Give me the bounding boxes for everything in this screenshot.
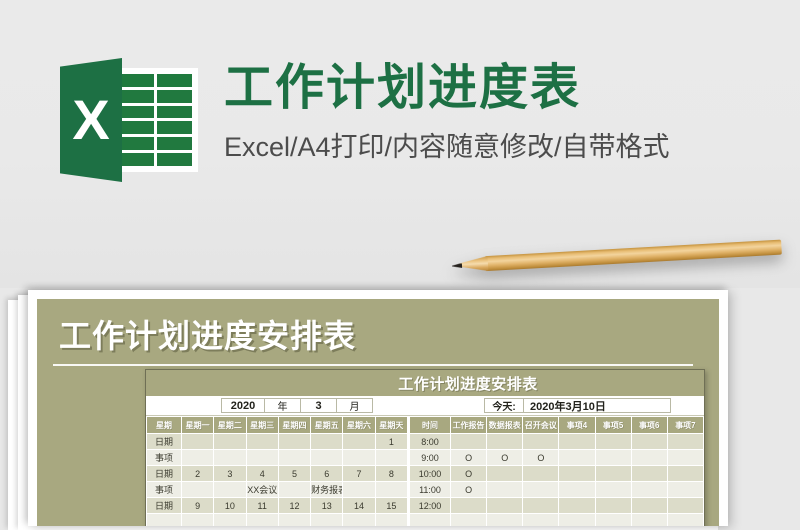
schedule-cell[interactable]	[559, 514, 595, 527]
weekday-cell[interactable]	[182, 514, 214, 527]
weekday-cell[interactable]	[311, 434, 343, 450]
schedule-cell[interactable]: O	[487, 450, 523, 466]
schedule-col-header: 工作报告	[451, 417, 487, 434]
schedule-col-header: 事项5	[595, 417, 631, 434]
schedule-col-header: 事项6	[631, 417, 667, 434]
table-row: 日期2345678	[147, 466, 408, 482]
table-row: 事项XX会议财务报表	[147, 482, 408, 498]
schedule-cell[interactable]	[523, 434, 559, 450]
weekday-cell[interactable]	[343, 450, 375, 466]
schedule-cell[interactable]: O	[451, 466, 487, 482]
pencil-graphite-tip	[452, 263, 462, 269]
weekday-cell[interactable]: 10	[214, 498, 246, 514]
schedule-cell[interactable]	[667, 450, 703, 466]
schedule-cell[interactable]	[667, 434, 703, 450]
schedule-row-label: 8:00	[409, 434, 451, 450]
schedule-cell[interactable]	[595, 450, 631, 466]
weekday-col-header: 星期二	[214, 417, 246, 434]
weekday-row-label: 日期	[147, 466, 182, 482]
schedule-col-header: 事项7	[667, 417, 703, 434]
today-label: 今天:	[484, 398, 524, 413]
weekday-col-header: 星期一	[182, 417, 214, 434]
schedule-col-header: 事项4	[559, 417, 595, 434]
schedule-cell[interactable]	[487, 482, 523, 498]
schedule-cell[interactable]	[631, 514, 667, 527]
weekday-cell[interactable]: 4	[246, 466, 278, 482]
schedule-col-header: 召开会议	[523, 417, 559, 434]
schedule-cell[interactable]	[523, 498, 559, 514]
weekday-table-container: 星期星期一星期二星期三星期四星期五星期六星期天 日期1事项日期2345678事项…	[146, 416, 408, 526]
weekday-cell[interactable]: 14	[343, 498, 375, 514]
table-row: 事项	[147, 450, 408, 466]
weekday-cell[interactable]: 9	[182, 498, 214, 514]
schedule-cell[interactable]	[523, 482, 559, 498]
hero-banner: X 工作计划进度表 Excel/A4打印/内容随意修改/自带格式	[0, 0, 800, 288]
spreadsheet-tables: 星期星期一星期二星期三星期四星期五星期六星期天 日期1事项日期2345678事项…	[146, 416, 704, 526]
weekday-row-label: 事项	[147, 450, 182, 466]
page-subtitle: Excel/A4打印/内容随意修改/自带格式	[224, 125, 670, 164]
weekday-table-header-row: 星期星期一星期二星期三星期四星期五星期六星期天	[147, 417, 408, 434]
month-input[interactable]: 3	[300, 398, 337, 413]
schedule-cell[interactable]: O	[451, 450, 487, 466]
weekday-col-header: 星期六	[343, 417, 375, 434]
spreadsheet-preview: 工作计划进度安排表 2020 年 3 月 今天: 2020年3月10日 星期星期…	[145, 369, 705, 526]
weekday-cell[interactable]	[214, 514, 246, 527]
schedule-table-header-row: 时间工作报告数据报表召开会议事项4事项5事项6事项7	[409, 417, 704, 434]
excel-icon-grid	[115, 71, 195, 169]
schedule-cell[interactable]	[559, 450, 595, 466]
page-title: 工作计划进度表	[224, 60, 670, 116]
weekday-cell[interactable]	[278, 434, 310, 450]
weekday-cell[interactable]	[343, 434, 375, 450]
weekday-col-header: 星期四	[278, 417, 310, 434]
schedule-cell[interactable]	[487, 514, 523, 527]
weekday-cell[interactable]	[375, 514, 407, 527]
weekday-row-label	[147, 514, 182, 527]
document-banner-title: 工作计划进度安排表	[59, 311, 719, 357]
schedule-cell[interactable]	[487, 434, 523, 450]
weekday-cell[interactable]	[278, 450, 310, 466]
schedule-cell[interactable]	[559, 498, 595, 514]
schedule-row-label: 11:00	[409, 482, 451, 498]
weekday-cell[interactable]	[182, 482, 214, 498]
weekday-row-label: 日期	[147, 434, 182, 450]
weekday-cell[interactable]	[246, 434, 278, 450]
weekday-cell[interactable]	[246, 450, 278, 466]
weekday-cell[interactable]: 12	[278, 498, 310, 514]
schedule-table: 时间工作报告数据报表召开会议事项4事项5事项6事项7 8:009:00OOO10…	[408, 416, 704, 526]
table-row: 11:00O	[409, 482, 704, 498]
schedule-cell[interactable]	[487, 498, 523, 514]
excel-file-icon: X	[60, 58, 198, 182]
schedule-cell[interactable]	[667, 498, 703, 514]
schedule-cell[interactable]	[559, 466, 595, 482]
schedule-cell[interactable]	[559, 482, 595, 498]
schedule-cell[interactable]: O	[523, 450, 559, 466]
weekday-cell[interactable]	[182, 434, 214, 450]
table-row: 日期9101112131415	[147, 498, 408, 514]
excel-icon-letter: X	[60, 58, 122, 182]
year-unit-label: 年	[264, 398, 301, 413]
table-row	[409, 514, 704, 527]
weekday-col-header: 星期三	[246, 417, 278, 434]
schedule-cell[interactable]	[451, 514, 487, 527]
weekday-cell[interactable]: 1	[375, 434, 407, 450]
weekday-cell[interactable]: 13	[311, 498, 343, 514]
table-row: 8:00	[409, 434, 704, 450]
document-body: 工作计划进度安排表 工作计划进度安排表 2020 年 3 月 今天: 2020年…	[37, 299, 719, 526]
schedule-cell[interactable]	[631, 498, 667, 514]
schedule-cell[interactable]	[595, 514, 631, 527]
weekday-table: 星期星期一星期二星期三星期四星期五星期六星期天 日期1事项日期2345678事项…	[146, 416, 408, 526]
weekday-cell[interactable]: 11	[246, 498, 278, 514]
pencil-wood-cone	[460, 256, 489, 273]
weekday-cell[interactable]	[375, 450, 407, 466]
schedule-cell[interactable]	[667, 514, 703, 527]
control-row-gap	[373, 398, 485, 413]
weekday-cell[interactable]	[278, 514, 310, 527]
schedule-cell[interactable]	[667, 466, 703, 482]
pencil-body	[486, 240, 782, 271]
schedule-cell[interactable]	[595, 482, 631, 498]
schedule-row-label: 9:00	[409, 450, 451, 466]
document-divider	[53, 364, 693, 366]
schedule-cell[interactable]	[487, 466, 523, 482]
year-input[interactable]: 2020	[221, 398, 265, 413]
schedule-cell[interactable]	[595, 434, 631, 450]
weekday-cell[interactable]: 8	[375, 466, 407, 482]
document-preview-stack: 工作计划进度安排表 工作计划进度安排表 2020 年 3 月 今天: 2020年…	[0, 290, 800, 526]
weekday-cell[interactable]	[214, 482, 246, 498]
weekday-cell[interactable]	[311, 450, 343, 466]
weekday-cell[interactable]: 15	[375, 498, 407, 514]
schedule-cell[interactable]	[523, 466, 559, 482]
today-value[interactable]: 2020年3月10日	[523, 398, 671, 413]
schedule-cell[interactable]	[631, 466, 667, 482]
weekday-cell[interactable]: 5	[278, 466, 310, 482]
weekday-cell[interactable]: 2	[182, 466, 214, 482]
schedule-cell[interactable]	[451, 498, 487, 514]
weekday-col-header: 星期天	[375, 417, 407, 434]
schedule-table-container: 时间工作报告数据报表召开会议事项4事项5事项6事项7 8:009:00OOO10…	[408, 416, 704, 526]
month-unit-label: 月	[336, 398, 373, 413]
schedule-row-label: 10:00	[409, 466, 451, 482]
pencil-illustration	[451, 235, 782, 279]
table-row: 10:00O	[409, 466, 704, 482]
schedule-cell[interactable]	[595, 466, 631, 482]
excel-icon-sheet	[112, 68, 198, 172]
weekday-cell[interactable]	[343, 514, 375, 527]
weekday-row-label: 日期	[147, 498, 182, 514]
schedule-cell[interactable]	[559, 434, 595, 450]
weekday-cell[interactable]: 7	[343, 466, 375, 482]
weekday-col-header: 星期	[147, 417, 182, 434]
table-row: 日期1	[147, 434, 408, 450]
schedule-col-header: 时间	[409, 417, 451, 434]
schedule-col-header: 数据报表	[487, 417, 523, 434]
table-row: 12:00	[409, 498, 704, 514]
schedule-cell[interactable]	[595, 498, 631, 514]
weekday-row-label: 事项	[147, 482, 182, 498]
schedule-cell[interactable]	[451, 434, 487, 450]
schedule-cell[interactable]	[631, 450, 667, 466]
weekday-cell[interactable]: 财务报表	[311, 482, 343, 498]
weekday-cell[interactable]: 6	[311, 466, 343, 482]
weekday-cell[interactable]	[375, 482, 407, 498]
spreadsheet-control-row: 2020 年 3 月 今天: 2020年3月10日	[146, 396, 704, 416]
schedule-cell[interactable]: O	[451, 482, 487, 498]
schedule-row-label: 12:00	[409, 498, 451, 514]
hero-text-block: 工作计划进度表 Excel/A4打印/内容随意修改/自带格式	[224, 58, 670, 164]
weekday-cell[interactable]: XX会议	[246, 482, 278, 498]
spreadsheet-title: 工作计划进度安排表	[146, 370, 704, 396]
weekday-cell[interactable]	[278, 482, 310, 498]
weekday-col-header: 星期五	[311, 417, 343, 434]
weekday-cell[interactable]	[246, 514, 278, 527]
schedule-cell[interactable]	[667, 482, 703, 498]
table-row: 9:00OOO	[409, 450, 704, 466]
table-row	[147, 514, 408, 527]
schedule-cell[interactable]	[631, 434, 667, 450]
weekday-cell[interactable]	[343, 482, 375, 498]
weekday-cell[interactable]	[214, 434, 246, 450]
weekday-cell[interactable]: 3	[214, 466, 246, 482]
schedule-cell[interactable]	[631, 482, 667, 498]
hero-content: X 工作计划进度表 Excel/A4打印/内容随意修改/自带格式	[60, 58, 670, 182]
weekday-cell[interactable]	[214, 450, 246, 466]
schedule-cell[interactable]	[523, 514, 559, 527]
schedule-row-label	[409, 514, 451, 527]
paper-sheet-front: 工作计划进度安排表 工作计划进度安排表 2020 年 3 月 今天: 2020年…	[28, 290, 728, 526]
weekday-cell[interactable]	[311, 514, 343, 527]
weekday-cell[interactable]	[182, 450, 214, 466]
